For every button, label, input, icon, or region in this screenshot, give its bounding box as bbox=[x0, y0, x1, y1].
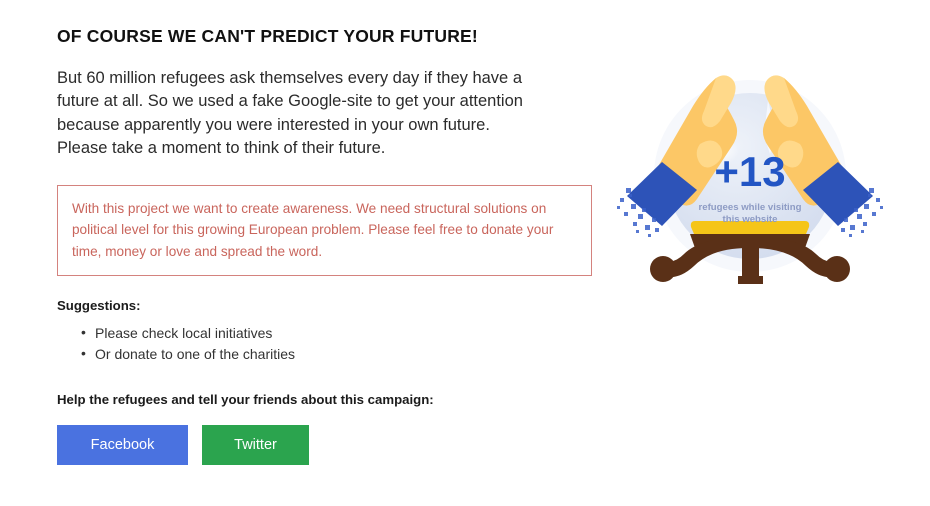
main-content-column: OF COURSE WE CAN'T PREDICT YOUR FUTURE! … bbox=[57, 26, 577, 465]
callout-text: With this project we want to create awar… bbox=[72, 198, 577, 262]
intro-paragraph: But 60 million refugees ask themselves e… bbox=[57, 67, 527, 161]
suggestions-list: Please check local initiatives Or donate… bbox=[57, 323, 577, 364]
crystal-ball-with-hands-illustration: +13 refugees while visiting this website bbox=[600, 58, 900, 288]
page-root: OF COURSE WE CAN'T PREDICT YOUR FUTURE! … bbox=[0, 0, 930, 506]
stand-right-foot bbox=[824, 256, 850, 282]
awareness-callout-box: With this project we want to create awar… bbox=[57, 185, 592, 276]
page-title: OF COURSE WE CAN'T PREDICT YOUR FUTURE! bbox=[57, 26, 577, 47]
refugee-counter-caption-line2: this website bbox=[723, 214, 778, 225]
share-heading: Help the refugees and tell your friends … bbox=[57, 392, 577, 407]
suggestions-heading: Suggestions: bbox=[57, 298, 577, 313]
refugee-counter-caption-line1: refugees while visiting bbox=[699, 202, 802, 213]
facebook-share-button[interactable]: Facebook bbox=[57, 425, 188, 465]
refugee-counter-value: +13 bbox=[714, 148, 785, 195]
list-item: Please check local initiatives bbox=[95, 323, 577, 344]
list-item: Or donate to one of the charities bbox=[95, 344, 577, 365]
stand-left-foot bbox=[650, 256, 676, 282]
stand-base-bar bbox=[738, 276, 763, 284]
twitter-share-button[interactable]: Twitter bbox=[202, 425, 309, 465]
share-button-row: Facebook Twitter bbox=[57, 425, 577, 465]
